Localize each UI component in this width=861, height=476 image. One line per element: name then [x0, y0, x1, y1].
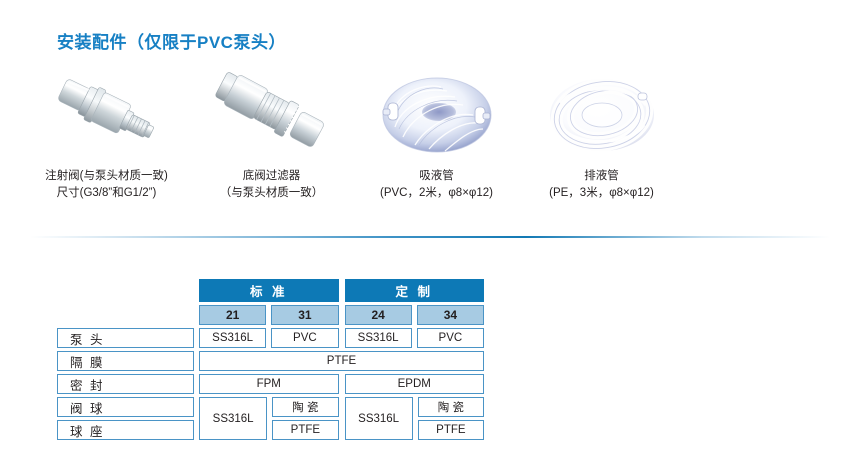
product-item-discharge-tube: 排液管 (PE，3米，φ8×φ12) [519, 68, 684, 202]
table-row: 隔 膜 PTFE [57, 351, 484, 371]
group-header-spacer [57, 279, 194, 302]
discharge-tube-coil-icon [527, 68, 677, 156]
cell-seal-custom: EPDM [345, 374, 485, 394]
suction-tube-coil-icon [362, 68, 512, 156]
cell-valve-ball-standard-ceramic: 陶 瓷 [272, 397, 338, 417]
product-caption: 底阀过滤器 （与泵头材质一致） [220, 168, 324, 202]
group-header-custom: 定 制 [345, 279, 485, 302]
row-label-diaphragm: 隔 膜 [57, 351, 194, 371]
table-row: 密 封 FPM EPDM [57, 374, 484, 394]
model-header-34: 34 [417, 305, 484, 325]
cell-diaphragm-all: PTFE [199, 351, 484, 371]
row-label-seal: 密 封 [57, 374, 194, 394]
row-label-ball-seat: 球 座 [57, 420, 194, 440]
model-header-21: 21 [199, 305, 266, 325]
cell-ball-seat-standard-ptfe: PTFE [272, 420, 338, 440]
model-header-24: 24 [345, 305, 412, 325]
cell-valve-standard-ss316l: SS316L [199, 397, 267, 440]
page-title: 安装配件（仅限于PVC泵头） [57, 28, 286, 53]
table-row-merged-valve: 阀 球 球 座 SS316L 陶 瓷 PTFE SS316L 陶 瓷 [57, 397, 484, 440]
material-spec-table: 标 准 定 制 21 31 24 34 泵 头 SS3 [57, 279, 484, 440]
product-caption: 吸液管 (PVC，2米，φ8×φ12) [380, 168, 493, 202]
model-header-spacer [57, 305, 194, 325]
product-caption: 注射阀(与泵头材质一致) 尺寸(G3/8”和G1/2”) [45, 168, 168, 202]
product-item-suction-tube: 吸液管 (PVC，2米，φ8×φ12) [354, 68, 519, 202]
section-divider [30, 236, 830, 238]
cell-valve-custom-ss316l: SS316L [345, 397, 413, 440]
cell-valve-ball-custom-ceramic: 陶 瓷 [418, 397, 484, 417]
cell-pump-head-34: PVC [417, 328, 484, 348]
product-caption: 排液管 (PE，3米，φ8×φ12) [549, 168, 654, 202]
accessory-gallery: 注射阀(与泵头材质一致) 尺寸(G3/8”和G1/2”) [24, 68, 684, 202]
injection-valve-fitting-icon [32, 68, 182, 156]
row-label-pump-head: 泵 头 [57, 328, 194, 348]
cell-pump-head-31: PVC [271, 328, 338, 348]
product-item-foot-valve-filter: 底阀过滤器 （与泵头材质一致） [189, 68, 354, 202]
model-header-31: 31 [271, 305, 338, 325]
cell-pump-head-24: SS316L [345, 328, 412, 348]
row-label-valve-ball: 阀 球 [57, 397, 194, 417]
table-row: 泵 头 SS316L PVC SS316L PVC [57, 328, 484, 348]
table-model-header-row: 21 31 24 34 [57, 305, 484, 325]
cell-pump-head-21: SS316L [199, 328, 266, 348]
table-group-header-row: 标 准 定 制 [57, 279, 484, 302]
cell-ball-seat-custom-ptfe: PTFE [418, 420, 484, 440]
product-item-injection-valve: 注射阀(与泵头材质一致) 尺寸(G3/8”和G1/2”) [24, 68, 189, 202]
group-header-standard: 标 准 [199, 279, 339, 302]
cell-seal-standard: FPM [199, 374, 339, 394]
foot-valve-filter-icon [197, 68, 347, 156]
